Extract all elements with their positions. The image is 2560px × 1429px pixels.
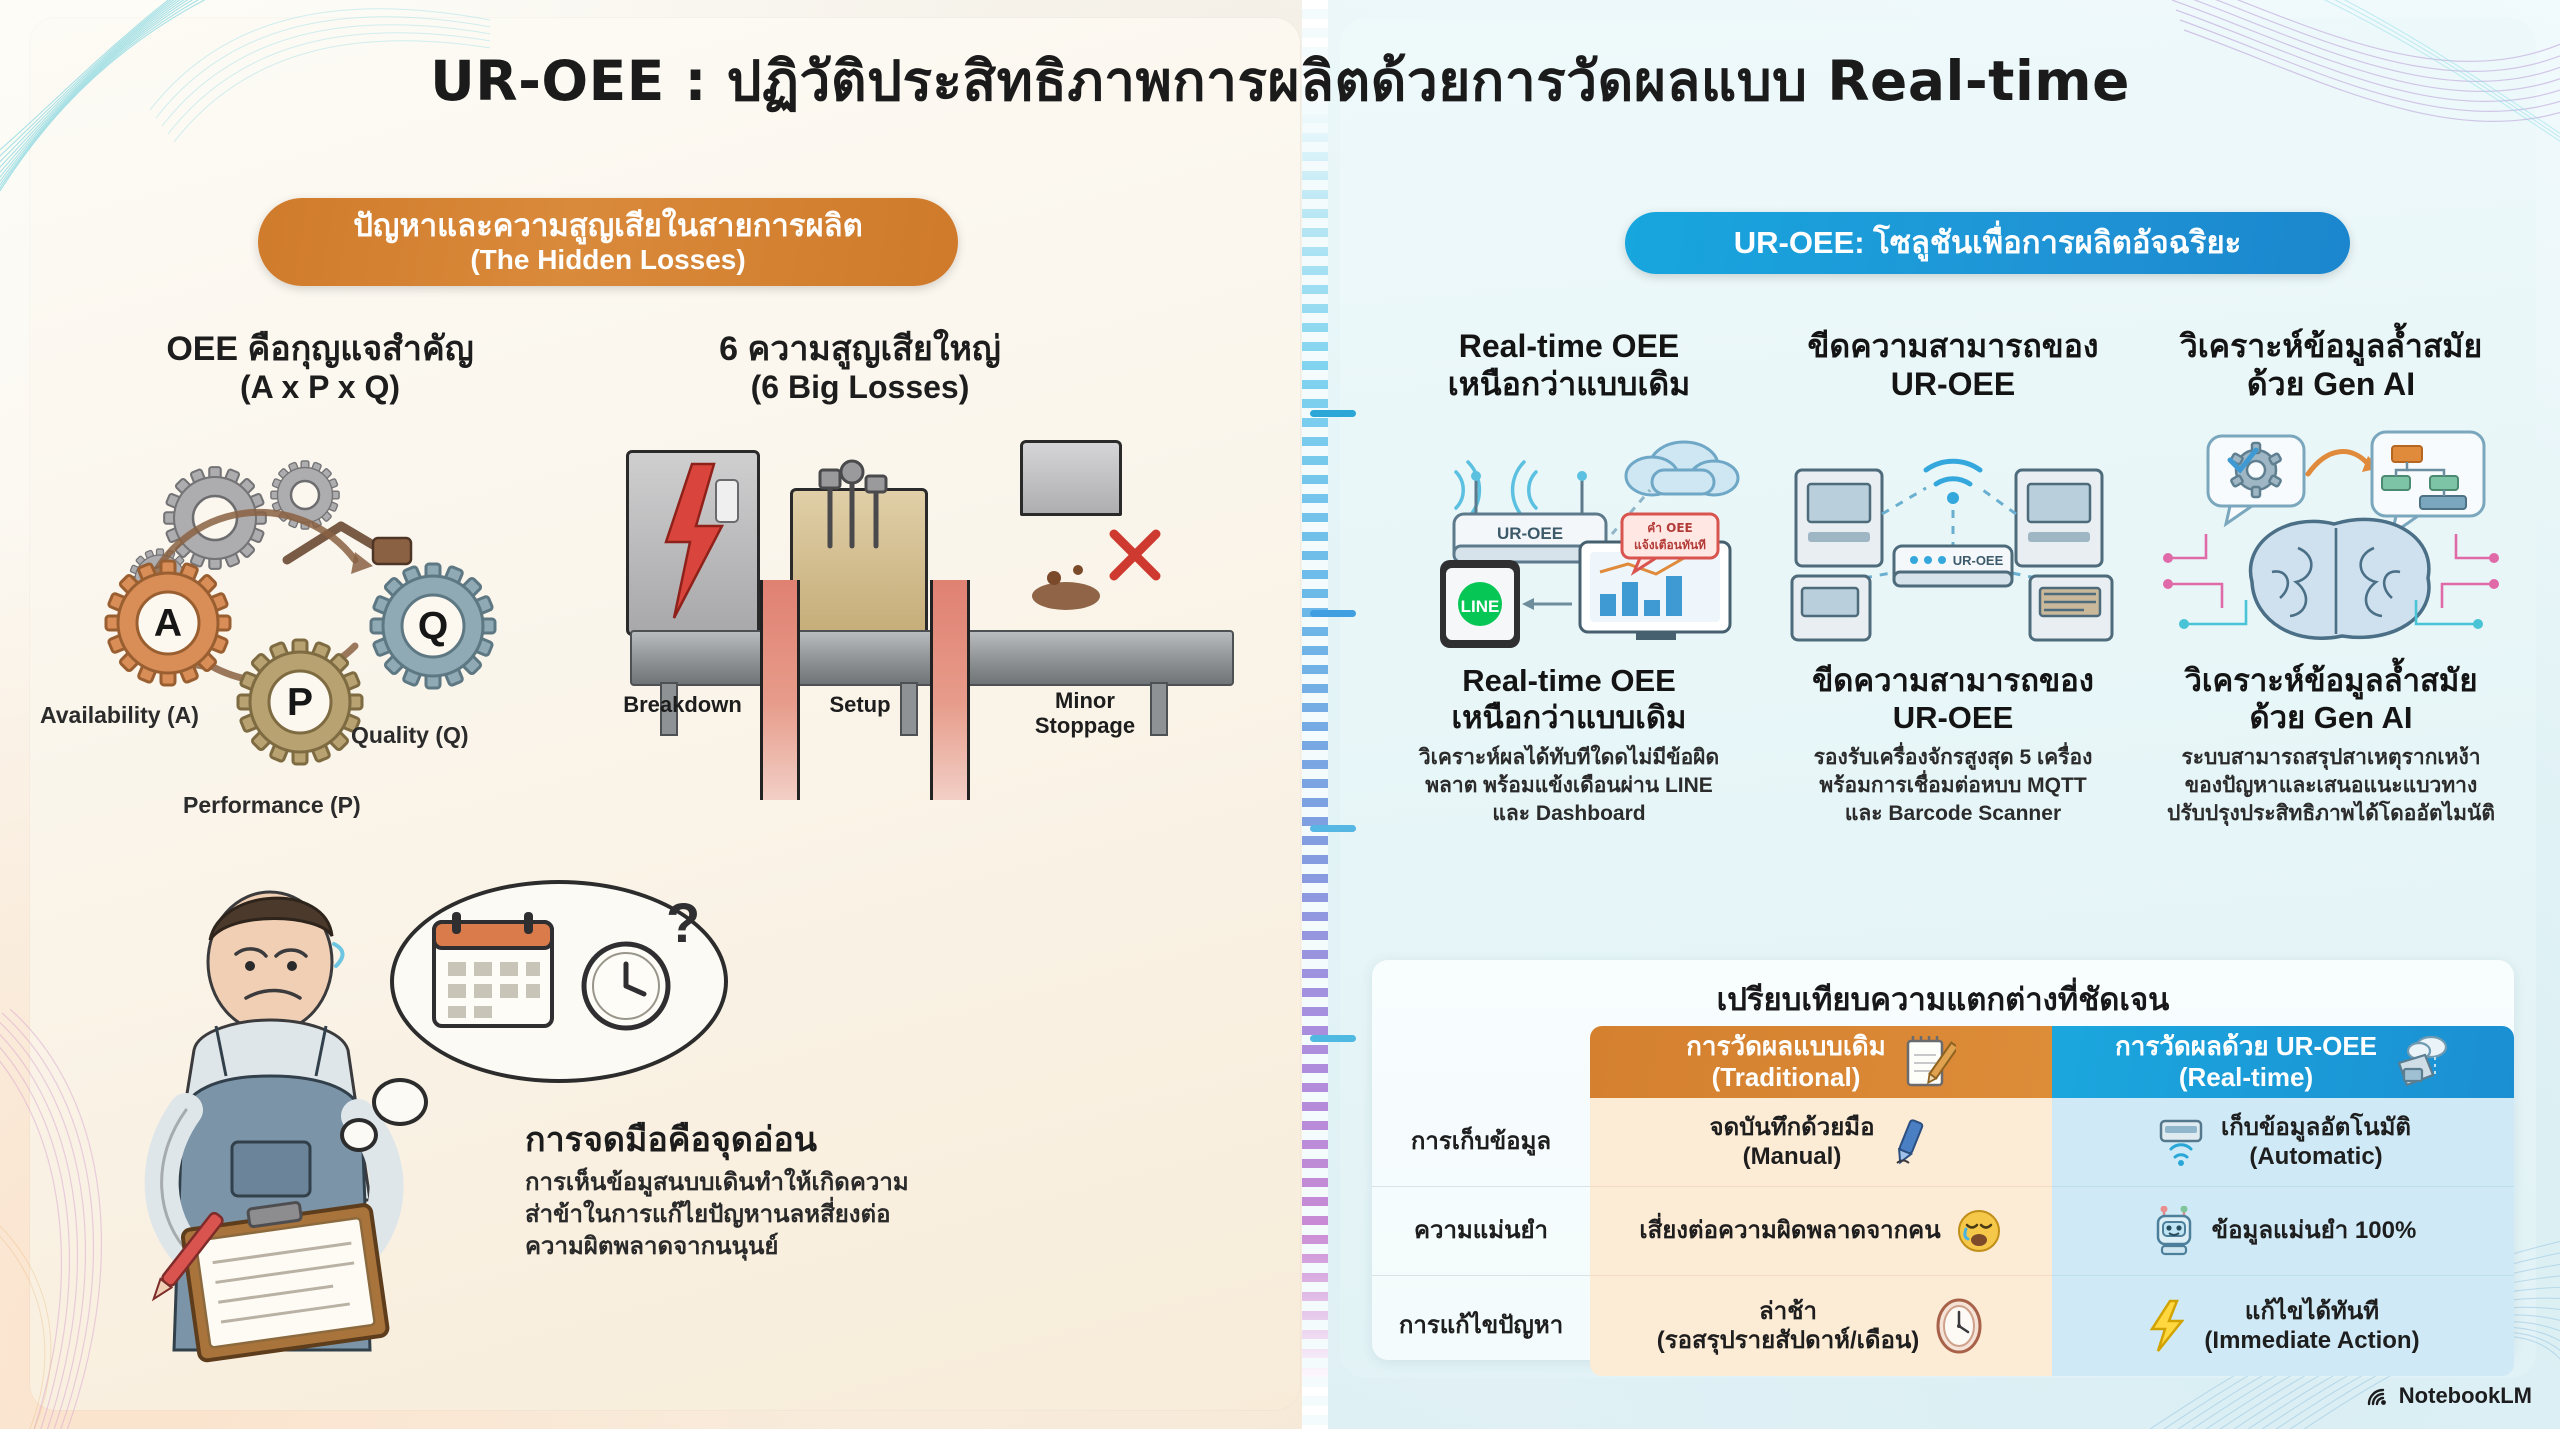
- svg-text:A: A: [154, 602, 182, 645]
- breakdown-bolt-icon: [630, 456, 750, 626]
- gear-label-availability: Availability (A): [40, 702, 199, 729]
- comparison-table: เปรียบเทียบความแตกต่างที่ชัดเจน การวัดผล…: [1372, 960, 2514, 1360]
- oee-key-heading-line2: (A x P x Q): [100, 369, 540, 406]
- feature3-body-line1: ระบบสามารถสรุปสาเหตุรากเหง้า: [2140, 744, 2522, 772]
- comparison-header-row: การวัดผลแบบเดิม (Traditional): [1372, 1026, 2514, 1098]
- gear-cluster-art: A P Q: [55, 440, 575, 840]
- row3-b-line2: (Immediate Action): [2204, 1326, 2419, 1355]
- loss-label-minor: Minor: [1000, 688, 1170, 713]
- loss-label-setup: Setup: [805, 692, 915, 717]
- loss-label-stoppage: Stoppage: [1000, 713, 1170, 738]
- left-badge-line1: ปัญหาและความสูญเสียในสายการผลิต: [353, 209, 863, 244]
- pen-icon: [1889, 1117, 1933, 1167]
- row1-b-line1: เก็บข้อมูลอัตโนมัติ: [2221, 1113, 2411, 1142]
- right-badge-label: UR-OEE: โซลูชันเพื่อการผลิตอัจฉริยะ: [1734, 226, 2242, 261]
- comparison-header-uroee: การวัดผลด้วย UR-OEE (Real-time): [2052, 1026, 2514, 1098]
- feature2-body-line1: รองรับเครื่องจักรสูงสุด 5 เครื่อง: [1762, 744, 2144, 772]
- infographic-page: UR-OEE : ปฏิวัติประสิทธิภาพการผลิตด้วยกา…: [0, 0, 2560, 1429]
- feature3-mid-line2: ด้วย Gen AI: [2140, 699, 2522, 736]
- loss-label-breakdown: Breakdown: [610, 692, 755, 717]
- left-section-badge: ปัญหาและความสูญเสียในสายการผลิต (The Hid…: [258, 198, 958, 286]
- comparison-grid: การวัดผลแบบเดิม (Traditional): [1372, 1026, 2514, 1376]
- oee-key-heading-line1: OEE คือกุญแจสำคัญ: [100, 330, 540, 369]
- comparison-header-traditional: การวัดผลแบบเดิม (Traditional): [1590, 1026, 2052, 1098]
- notepad-pencil-icon: [1900, 1033, 1956, 1091]
- scanner-cloud-icon: [2391, 1033, 2451, 1091]
- loss-label-minor-stoppage: Minor Stoppage: [1000, 688, 1170, 739]
- lightning-icon: [2146, 1299, 2190, 1353]
- svg-text:?: ?: [666, 891, 700, 954]
- spine-major-tick: [1310, 825, 1356, 832]
- feature2-body-line3: และ Barcode Scanner: [1762, 800, 2144, 828]
- row3-a-line1: ล่าช้า: [1657, 1297, 1920, 1326]
- oee-key-heading: OEE คือกุญแจสำคัญ (A x P x Q): [100, 330, 540, 407]
- comparison-row: การแก้ไขปัญหา ล่าช้า (รอสรุปรายสัปดาห์/เ…: [1372, 1276, 2514, 1376]
- feature1-body-line3: และ Dashboard: [1378, 800, 1760, 828]
- svg-text:แจ้งเตือนทันที: แจ้งเตือนทันที: [1634, 538, 1706, 552]
- row3-uroee: แก้ไขได้ทันที (Immediate Action): [2052, 1276, 2514, 1376]
- minor-stoppage-icon: [1004, 500, 1164, 640]
- feature3-body-line3: ปรับปรุงประสิทธิภาพได้โดออัตไมนัติ: [2140, 800, 2522, 828]
- device-label: UR-OEE: [1497, 524, 1563, 543]
- crack-divider: [930, 580, 970, 800]
- svg-text:Q: Q: [418, 605, 448, 648]
- feature-column-capability: ขีดความสามารถของ UR-OEE: [1762, 328, 2144, 828]
- row2-a-line1: เสี่ยงต่อความผิดพลาดจากคน: [1639, 1216, 1940, 1245]
- notebooklm-watermark: NotebookLM: [2366, 1383, 2532, 1409]
- feature2-artwork: UR-OEE: [1768, 418, 2138, 648]
- row3-label: การแก้ไขปัญหา: [1372, 1276, 1590, 1376]
- feature2-mid-line2: UR-OEE: [1762, 699, 2144, 736]
- line-app-label: LINE: [1461, 597, 1500, 616]
- comparison-header-blank: [1372, 1026, 1590, 1098]
- comparison-title: เปรียบเทียบความแตกต่างที่ชัดเจน: [1372, 974, 2514, 1024]
- header-traditional-line1: การวัดผลแบบเดิม: [1686, 1031, 1886, 1062]
- big-losses-heading-line2: (6 Big Losses): [640, 369, 1080, 406]
- manual-weakness-block: การจดมือคือจุดอ่อน การเห็นข้อมูสนบบเดินท…: [525, 1120, 1065, 1263]
- thought-bubble-contents: ?: [394, 884, 724, 1079]
- right-section-badge: UR-OEE: โซลูชันเพื่อการผลิตอัจฉริยะ: [1625, 212, 2350, 274]
- feature1-mid-line2: เหนือกว่าแบบเดิม: [1378, 699, 1760, 736]
- feature2-mid-line1: ขีดความสามารถของ: [1762, 662, 2144, 699]
- gear-label-performance: Performance (P): [183, 792, 361, 819]
- oee-gear-cluster: A P Q Availability (A) Performance (P) Q…: [55, 440, 575, 840]
- header-uroee-line2: (Real-time): [2115, 1062, 2377, 1093]
- machine-network-art: UR-OEE: [1768, 418, 2138, 648]
- feature-column-realtime: Real-time OEE เหนือกว่าแบบเดิม: [1378, 328, 1760, 828]
- feature1-top-line2: เหนือกว่าแบบเดิม: [1378, 366, 1760, 404]
- feature1-body-line2: พลาต พร้อมแข้งเดือนผ่าน LINE: [1378, 772, 1760, 800]
- feature1-mid-line1: Real-time OEE: [1378, 662, 1760, 699]
- row3-a-line2: (รอสรุปรายสัปดาห์/เดือน): [1657, 1326, 1920, 1355]
- feature-column-genai: วิเคราะห์ข้อมูลล้ำสมัย ด้วย Gen AI: [2140, 328, 2522, 828]
- spine-major-tick: [1310, 1035, 1356, 1042]
- row3-b-line1: แก้ไขได้ทันที: [2204, 1297, 2419, 1326]
- feature1-artwork: UR-OEE: [1384, 418, 1754, 648]
- svg-text:UR-OEE: UR-OEE: [1953, 553, 2004, 568]
- feature3-top-line1: วิเคราะห์ข้อมูลล้ำสมัย: [2140, 328, 2522, 366]
- notebooklm-icon: [2366, 1384, 2390, 1408]
- wireless-scanner-icon: [2155, 1117, 2207, 1167]
- spine-major-tick: [1310, 610, 1356, 617]
- row1-a-line1: จดบันทึกด้วยมือ: [1710, 1113, 1875, 1142]
- gear-label-quality: Quality (Q): [351, 722, 469, 749]
- left-badge-line2: (The Hidden Losses): [470, 244, 745, 275]
- manual-weakness-heading: การจดมือคือจุดอ่อน: [525, 1120, 1065, 1161]
- feature2-top-line1: ขีดความสามารถของ: [1762, 328, 2144, 366]
- row2-label: ความแม่นยำ: [1372, 1187, 1590, 1275]
- ur-oee-gateway-art: UR-OEE: [1384, 418, 1754, 648]
- feature1-body-line1: วิเคราะห์ผลได้ทับทีใดดไม่มีข้อผิด: [1378, 744, 1760, 772]
- feature3-top-line2: ด้วย Gen AI: [2140, 366, 2522, 404]
- weary-face-icon: [1955, 1207, 2003, 1255]
- row1-uroee: เก็บข้อมูลอัตโนมัติ (Automatic): [2052, 1098, 2514, 1186]
- header-traditional-line2: (Traditional): [1686, 1062, 1886, 1093]
- svg-text:คำ OEE: คำ OEE: [1647, 521, 1693, 535]
- feature2-body-line2: พร้อมการเชื่อมต่อหบบ MQTT: [1762, 772, 2144, 800]
- row1-label: การเก็บข้อมูล: [1372, 1098, 1590, 1186]
- svg-text:P: P: [287, 681, 313, 724]
- header-uroee-line1: การวัดผลด้วย UR-OEE: [2115, 1031, 2377, 1062]
- ai-brain-art: [2146, 418, 2516, 648]
- feature3-artwork: [2146, 418, 2516, 648]
- notebooklm-label: NotebookLM: [2399, 1383, 2532, 1409]
- feature1-top-line1: Real-time OEE: [1378, 328, 1760, 366]
- row2-traditional: เสี่ยงต่อความผิดพลาดจากคน: [1590, 1187, 2052, 1275]
- spine-major-tick: [1310, 410, 1356, 417]
- manual-weakness-line2: ส่าข้าในการแก๊ไยปัญหานลหสี่ยงต่อ: [525, 1199, 1065, 1231]
- thought-bubble: ?: [390, 880, 728, 1083]
- row1-traditional: จดบันทึกด้วยมือ (Manual): [1590, 1098, 2052, 1186]
- row2-uroee: ข้อมูลแม่นยำ 100%: [2052, 1187, 2514, 1275]
- row1-b-line2: (Automatic): [2221, 1142, 2411, 1171]
- crack-divider: [760, 580, 800, 800]
- row3-traditional: ล่าช้า (รอสรุปรายสัปดาห์/เดือน): [1590, 1276, 2052, 1376]
- tools-icon: [796, 450, 918, 630]
- manual-weakness-line1: การเห็นข้อมูสนบบเดินทำให้เกิดความ: [525, 1167, 1065, 1199]
- feature3-mid-line1: วิเคราะห์ข้อมูลล้ำสมัย: [2140, 662, 2522, 699]
- clock-icon: [1933, 1298, 1985, 1354]
- robot-icon: [2150, 1206, 2198, 1256]
- center-spine-ticks: [1302, 0, 1328, 1429]
- page-title: UR-OEE : ปฏิวัติประสิทธิภาพการผลิตด้วยกา…: [0, 38, 2560, 125]
- big-losses-heading-line1: 6 ความสูญเสียใหญ่: [640, 330, 1080, 369]
- comparison-row: ความแม่นยำ เสี่ยงต่อความผิดพลาดจากคน: [1372, 1187, 2514, 1275]
- row2-b-line1: ข้อมูลแม่นยำ 100%: [2212, 1216, 2417, 1245]
- thought-bubble-tiny: [340, 1118, 378, 1152]
- feature2-top-line2: UR-OEE: [1762, 366, 2144, 404]
- thought-bubble-small: [372, 1078, 428, 1126]
- row1-a-line2: (Manual): [1710, 1142, 1875, 1171]
- feature3-body-line2: ของปัญหาและเสนอแนะแบวทาง: [2140, 772, 2522, 800]
- big-losses-heading: 6 ความสูญเสียใหญ่ (6 Big Losses): [640, 330, 1080, 407]
- six-big-losses-illustration: Breakdown Setup Minor Stoppage: [600, 430, 1260, 830]
- manual-weakness-line3: ความผิตพลาดจากนนุนย์: [525, 1231, 1065, 1263]
- comparison-row: การเก็บข้อมูล จดบันทึกด้วยมือ (Manual): [1372, 1098, 2514, 1186]
